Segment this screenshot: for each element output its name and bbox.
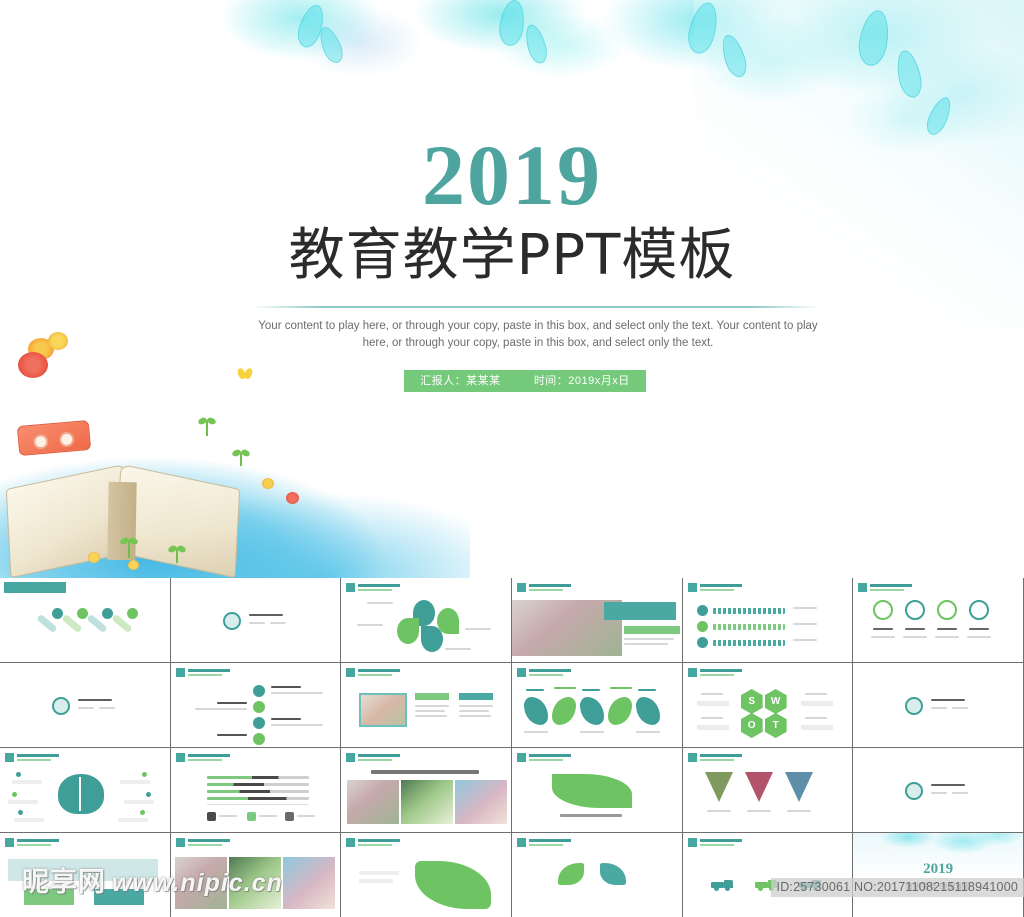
- column-text: [459, 705, 493, 707]
- axis-line: [207, 804, 309, 805]
- flower-icon: [48, 332, 68, 350]
- point-text: [8, 800, 38, 804]
- point-dot: [142, 772, 147, 777]
- caption-line: [445, 648, 471, 650]
- sub-line: [931, 707, 947, 709]
- ppt-template-preview-page: 2019 教育教学PPT模板 Your content to play here…: [0, 0, 1024, 917]
- flower-icon: [286, 492, 299, 504]
- progress-bar: [207, 797, 309, 800]
- triangle-photo: [785, 772, 813, 802]
- thumbnail-slide-2[interactable]: [171, 578, 342, 663]
- puzzle-piece: [636, 697, 660, 725]
- text-panel: [624, 626, 680, 634]
- list-text: [195, 708, 247, 710]
- slide-header: [176, 753, 230, 762]
- panel: [94, 889, 144, 905]
- slide-photo: [347, 780, 399, 824]
- flower-icon: [262, 478, 274, 489]
- thumbnail-slide-23[interactable]: [683, 833, 854, 917]
- swot-text: [697, 701, 729, 706]
- legend-text: [297, 815, 315, 817]
- row-icon: [697, 637, 708, 648]
- ring-caption: [873, 628, 893, 630]
- slide-header: [346, 838, 400, 847]
- pin-dot: [102, 608, 113, 619]
- flower-icon: [18, 352, 48, 378]
- pin-dot: [52, 608, 63, 619]
- point-text: [124, 800, 154, 804]
- thumbnail-slide-24[interactable]: 2019 演讲完毕 谢谢观看: [853, 833, 1024, 917]
- leaf-caption: [560, 814, 622, 817]
- puzzle-piece: [608, 697, 632, 725]
- caption-line: [357, 624, 383, 626]
- thumbnail-grid: S W O T: [0, 578, 1024, 917]
- triangle-photo: [705, 772, 733, 802]
- slide-header: [688, 753, 742, 762]
- hero-subtitle: Your content to play here, or through yo…: [255, 318, 821, 352]
- point-dot: [140, 810, 145, 815]
- thumbnail-slide-12[interactable]: [853, 663, 1024, 748]
- page-title: 教育教学PPT模板: [0, 225, 1024, 287]
- title-divider: [252, 306, 820, 308]
- thumbnail-slide-17[interactable]: [683, 748, 854, 833]
- triangle-photo: [745, 772, 773, 802]
- list-title: [217, 702, 247, 704]
- step-label: [524, 731, 548, 733]
- ring-text: [935, 636, 959, 638]
- wing-icon-left: [558, 863, 584, 885]
- slide-header: [5, 838, 59, 847]
- point-text: [12, 780, 42, 784]
- slide-photo: [401, 780, 453, 824]
- puzzle-piece: [552, 697, 576, 725]
- text-panel: [604, 602, 676, 620]
- thumbnail-slide-13[interactable]: [0, 748, 171, 833]
- thumbnail-slide-19[interactable]: [0, 833, 171, 917]
- row-icon: [697, 605, 708, 616]
- tri-caption: [787, 810, 811, 812]
- bubble-shape: [421, 626, 443, 652]
- body-text: [359, 871, 399, 875]
- thumbnail-slide-6[interactable]: [853, 578, 1024, 663]
- icon-bar-row: [713, 624, 785, 630]
- slide-header: [346, 583, 400, 592]
- ring-icon: [873, 600, 893, 620]
- point-text: [14, 818, 44, 822]
- column-text: [415, 705, 449, 707]
- ring-icon: [969, 600, 989, 620]
- slide-photo: [175, 857, 227, 909]
- flower-icon: [88, 552, 100, 563]
- thumbnail-slide-5[interactable]: [683, 578, 854, 663]
- swot-text: [801, 701, 833, 706]
- row-caption: [793, 607, 817, 609]
- step-label: [580, 731, 604, 733]
- section-ring-icon: [905, 782, 923, 800]
- thumbnail-slide-21[interactable]: [341, 833, 512, 917]
- slide-photo: [359, 693, 407, 727]
- final-slide-bg: 2019 演讲完毕 谢谢观看: [853, 833, 1023, 917]
- panel: [8, 859, 158, 881]
- body-text: [359, 879, 393, 883]
- tri-caption: [707, 810, 731, 812]
- point-dot: [16, 772, 21, 777]
- point-dot: [12, 792, 17, 797]
- step-caption: [582, 689, 600, 691]
- row-icon: [697, 621, 708, 632]
- slide-header: [688, 668, 742, 677]
- slide-header: [517, 838, 571, 847]
- step-caption: [610, 687, 632, 689]
- presenter-label: 汇报人：某某某: [420, 375, 501, 387]
- pencil-case-icon: [17, 420, 91, 456]
- list-title: [217, 734, 247, 736]
- thumbnail-slide-4[interactable]: [512, 578, 683, 663]
- puzzle-piece: [580, 697, 604, 725]
- ring-text: [871, 636, 895, 638]
- list-text: [271, 692, 323, 694]
- title-line: [931, 699, 965, 701]
- icon-bar-row: [713, 640, 785, 646]
- ring-icon: [937, 600, 957, 620]
- bubble-shape: [397, 618, 419, 644]
- sprout-icon: [206, 420, 208, 436]
- slide-header: [176, 668, 230, 677]
- caption-line: [367, 602, 393, 604]
- swot-hex-t: T: [765, 713, 787, 738]
- swot-caption: [805, 717, 827, 719]
- panel: [24, 889, 74, 905]
- open-book-illustration: [8, 451, 238, 566]
- thumbnail-slide-7[interactable]: [0, 663, 171, 748]
- slide-header: [517, 583, 571, 592]
- pin-dot: [77, 608, 88, 619]
- step-caption: [554, 687, 576, 689]
- column-header: [415, 693, 449, 700]
- thumbnail-slide-3[interactable]: [341, 578, 512, 663]
- slide-header: [858, 583, 912, 592]
- title-line: [249, 614, 283, 616]
- sub-line: [249, 622, 265, 624]
- thumbnail-slide-20[interactable]: [171, 833, 342, 917]
- title-line: [931, 784, 965, 786]
- step-caption: [638, 689, 656, 691]
- caption-line: [465, 628, 491, 630]
- ring-text: [967, 636, 991, 638]
- slide-photo: [455, 780, 507, 824]
- row-caption: [793, 639, 817, 641]
- puzzle-piece: [524, 697, 548, 725]
- legend-swatch: [207, 812, 216, 821]
- list-bullet: [253, 685, 265, 697]
- thumbnail-slide-9[interactable]: [341, 663, 512, 748]
- sprout-icon: [240, 452, 242, 466]
- column-text: [459, 715, 491, 717]
- truck-wheel: [725, 886, 730, 891]
- slide-header: [688, 583, 742, 592]
- slide-header: [517, 753, 571, 762]
- swot-hex-s: S: [741, 689, 763, 714]
- sub-line: [99, 707, 115, 709]
- ring-text: [903, 636, 927, 638]
- legend-text: [259, 815, 277, 817]
- thumbnail-slide-8[interactable]: [171, 663, 342, 748]
- point-dot: [18, 810, 23, 815]
- swot-hex-w: W: [765, 689, 787, 714]
- presenter-badge: 汇报人：某某某 时间：2019x月x日: [404, 370, 646, 392]
- flower-icon: [128, 560, 139, 570]
- ring-caption: [937, 628, 957, 630]
- sprout-icon: [176, 548, 178, 563]
- image-id-badge: ID:25730061 NO:20171108215118941000: [771, 878, 1024, 897]
- headline: [371, 770, 479, 774]
- swot-hex-o: O: [741, 713, 763, 738]
- thumbnail-slide-18[interactable]: [853, 748, 1024, 833]
- point-text: [120, 780, 150, 784]
- leaf-shape: [552, 774, 632, 808]
- truck-icon: [711, 877, 733, 891]
- slide-header: [346, 753, 400, 762]
- swot-caption: [701, 693, 723, 695]
- sub-line: [270, 622, 286, 624]
- sub-line: [952, 792, 968, 794]
- slide-header: [517, 668, 571, 677]
- legend-text: [219, 815, 237, 817]
- ring-icon: [905, 600, 925, 620]
- date-label: 时间：2019x月x日: [534, 375, 630, 387]
- sub-line: [952, 707, 968, 709]
- section-ring-icon: [52, 697, 70, 715]
- thumbnail-slide-22[interactable]: [512, 833, 683, 917]
- sprout-icon: [128, 540, 130, 558]
- list-text: [271, 724, 323, 726]
- tri-caption: [747, 810, 771, 812]
- butterfly-icon: [238, 368, 252, 380]
- list-title: [271, 718, 301, 720]
- truck-wheel: [758, 886, 763, 891]
- progress-bar: [207, 790, 309, 793]
- watercolor-splash-icon: [853, 833, 1023, 863]
- brain-icon: [58, 774, 104, 814]
- point-text: [118, 818, 148, 822]
- swot-text: [697, 725, 729, 730]
- step-caption: [526, 689, 544, 691]
- hero-year: 2019: [0, 132, 1024, 218]
- thumbnail-slide-11[interactable]: S W O T: [683, 663, 854, 748]
- list-bullet: [253, 733, 265, 745]
- section-ring-icon: [223, 612, 241, 630]
- list-bullet: [253, 701, 265, 713]
- slide-header: [5, 753, 59, 762]
- swot-text: [801, 725, 833, 730]
- step-label: [636, 731, 660, 733]
- hero-slide[interactable]: 2019 教育教学PPT模板 Your content to play here…: [0, 0, 1024, 578]
- progress-bar: [207, 776, 309, 779]
- title-line: [78, 699, 112, 701]
- text-line: [624, 643, 668, 645]
- swot-caption: [805, 693, 827, 695]
- legend-swatch: [247, 812, 256, 821]
- book-spine: [107, 482, 136, 560]
- thumbnail-slide-15[interactable]: [341, 748, 512, 833]
- column-header: [459, 693, 493, 700]
- column-text: [459, 710, 489, 712]
- wing-icon-right: [600, 863, 626, 885]
- ring-caption: [969, 628, 989, 630]
- slide-photo: [283, 857, 335, 909]
- legend-swatch: [285, 812, 294, 821]
- point-dot: [146, 792, 151, 797]
- sub-line: [78, 707, 94, 709]
- pin-dot: [127, 608, 138, 619]
- slide-header: [346, 668, 400, 677]
- column-text: [415, 710, 445, 712]
- thumbnail-slide-1[interactable]: [0, 578, 171, 663]
- ring-caption: [905, 628, 925, 630]
- thumbnail-slide-14[interactable]: [171, 748, 342, 833]
- sub-line: [931, 792, 947, 794]
- thumbnail-slide-10[interactable]: [512, 663, 683, 748]
- truck-wheel: [714, 886, 719, 891]
- progress-bar: [207, 783, 309, 786]
- slide-photo: [229, 857, 281, 909]
- list-title: [271, 686, 301, 688]
- slide-banner: [4, 582, 66, 593]
- final-year: 2019: [853, 861, 1023, 878]
- slide-header: [176, 838, 230, 847]
- thumbnail-slide-16[interactable]: [512, 748, 683, 833]
- leaf-shape: [415, 861, 491, 909]
- column-text: [415, 715, 447, 717]
- slide-header: [688, 838, 742, 847]
- icon-bar-row: [713, 608, 785, 614]
- section-ring-icon: [905, 697, 923, 715]
- text-line: [624, 638, 674, 640]
- list-bullet: [253, 717, 265, 729]
- row-caption: [793, 623, 817, 625]
- swot-caption: [701, 717, 723, 719]
